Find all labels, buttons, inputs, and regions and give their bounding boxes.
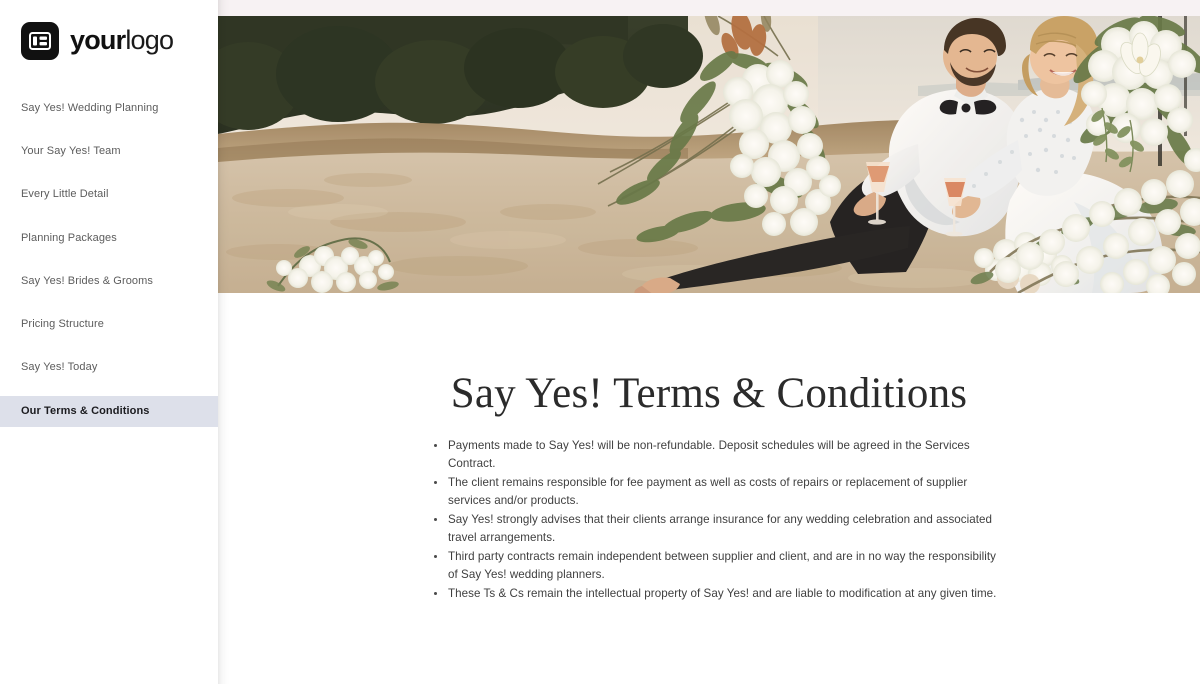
list-item: The client remains responsible for fee p… (440, 474, 1002, 510)
brand-name-light: logo (125, 25, 173, 55)
sidebar: yourlogo Say Yes! Wedding Planning Your … (0, 0, 218, 684)
list-item: Say Yes! strongly advises that their cli… (440, 511, 1002, 547)
main-content: Say Yes! Terms & Conditions Payments mad… (218, 293, 1200, 684)
sidebar-item-planning-packages[interactable]: Planning Packages (0, 224, 218, 253)
sidebar-item-say-yes-today[interactable]: Say Yes! Today (0, 353, 218, 382)
hero-top-strip (218, 0, 1200, 16)
brand-name: yourlogo (70, 27, 173, 56)
sidebar-item-brides-grooms[interactable]: Say Yes! Brides & Grooms (0, 267, 218, 296)
brand-logo[interactable]: yourlogo (21, 22, 173, 60)
list-item: Payments made to Say Yes! will be non-re… (440, 437, 1002, 473)
sidebar-item-terms-conditions[interactable]: Our Terms & Conditions (0, 396, 218, 427)
sidebar-item-pricing-structure[interactable]: Pricing Structure (0, 310, 218, 339)
dashboard-layout-icon (21, 22, 59, 60)
list-item: Third party contracts remain independent… (440, 548, 1002, 584)
page-title: Say Yes! Terms & Conditions (218, 370, 1200, 418)
hero-wedding-photo (218, 16, 1200, 293)
terms-list: Payments made to Say Yes! will be non-re… (422, 437, 1002, 603)
hero-image (218, 16, 1200, 293)
sidebar-item-every-little-detail[interactable]: Every Little Detail (0, 180, 218, 209)
sidebar-item-wedding-planning[interactable]: Say Yes! Wedding Planning (0, 94, 218, 123)
sidebar-nav: Say Yes! Wedding Planning Your Say Yes! … (0, 94, 218, 442)
brand-name-strong: your (70, 25, 125, 55)
list-item: These Ts & Cs remain the intellectual pr… (440, 585, 1002, 603)
sidebar-item-team[interactable]: Your Say Yes! Team (0, 137, 218, 166)
page-root: Say Yes! Terms & Conditions Payments mad… (0, 0, 1200, 684)
